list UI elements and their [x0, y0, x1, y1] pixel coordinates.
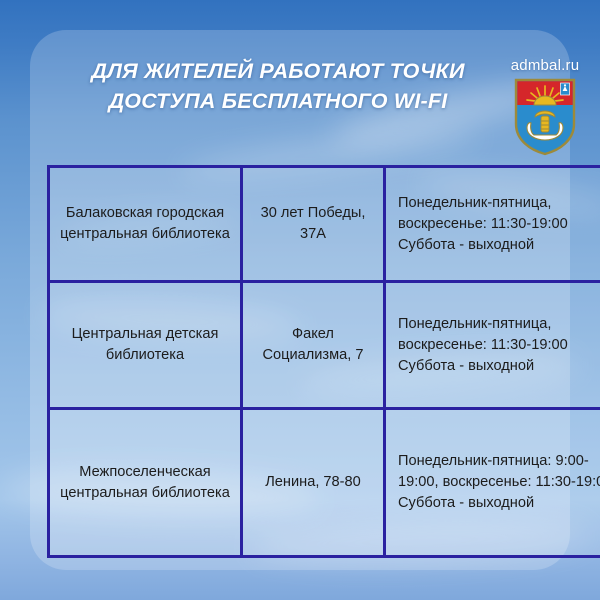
page-title: ДЛЯ ЖИТЕЛЕЙ РАБОТАЮТ ТОЧКИ ДОСТУПА БЕСПЛ… — [58, 56, 498, 116]
library-name-cell: Межпоселенческая центральная библиотека — [49, 409, 242, 557]
table-row: Межпоселенческая центральная библиотека … — [49, 409, 600, 557]
library-name-cell: Центральная детская библиотека — [49, 282, 242, 409]
wifi-access-points-poster: ДЛЯ ЖИТЕЛЕЙ РАБОТАЮТ ТОЧКИ ДОСТУПА БЕСПЛ… — [0, 0, 600, 600]
wifi-locations-table: Балаковская городская центральная библио… — [47, 165, 600, 558]
library-address-cell: Факел Социализма, 7 — [242, 282, 385, 409]
library-address-cell: Ленина, 78-80 — [242, 409, 385, 557]
library-name-cell: Балаковская городская центральная библио… — [49, 167, 242, 282]
library-hours-cell: Понедельник-пятница, воскресенье: 11:30-… — [385, 282, 600, 409]
library-hours-cell: Понедельник-пятница, воскресенье: 11:30-… — [385, 167, 600, 282]
site-logo-block: admbal.ru — [503, 57, 587, 156]
site-url-text: admbal.ru — [503, 57, 587, 75]
balakovo-coat-of-arms-icon — [514, 78, 576, 156]
poster-header: ДЛЯ ЖИТЕЛЕЙ РАБОТАЮТ ТОЧКИ ДОСТУПА БЕСПЛ… — [0, 0, 600, 165]
table-row: Центральная детская библиотека Факел Соц… — [49, 282, 600, 409]
title-line-2: ДОСТУПА БЕСПЛАТНОГО WI-FI — [58, 86, 498, 116]
table-row: Балаковская городская центральная библио… — [49, 167, 600, 282]
title-line-1: ДЛЯ ЖИТЕЛЕЙ РАБОТАЮТ ТОЧКИ — [91, 59, 464, 83]
library-address-cell: 30 лет Победы, 37А — [242, 167, 385, 282]
library-hours-cell: Понедельник-пятница: 9:00-19:00, воскрес… — [385, 409, 600, 557]
